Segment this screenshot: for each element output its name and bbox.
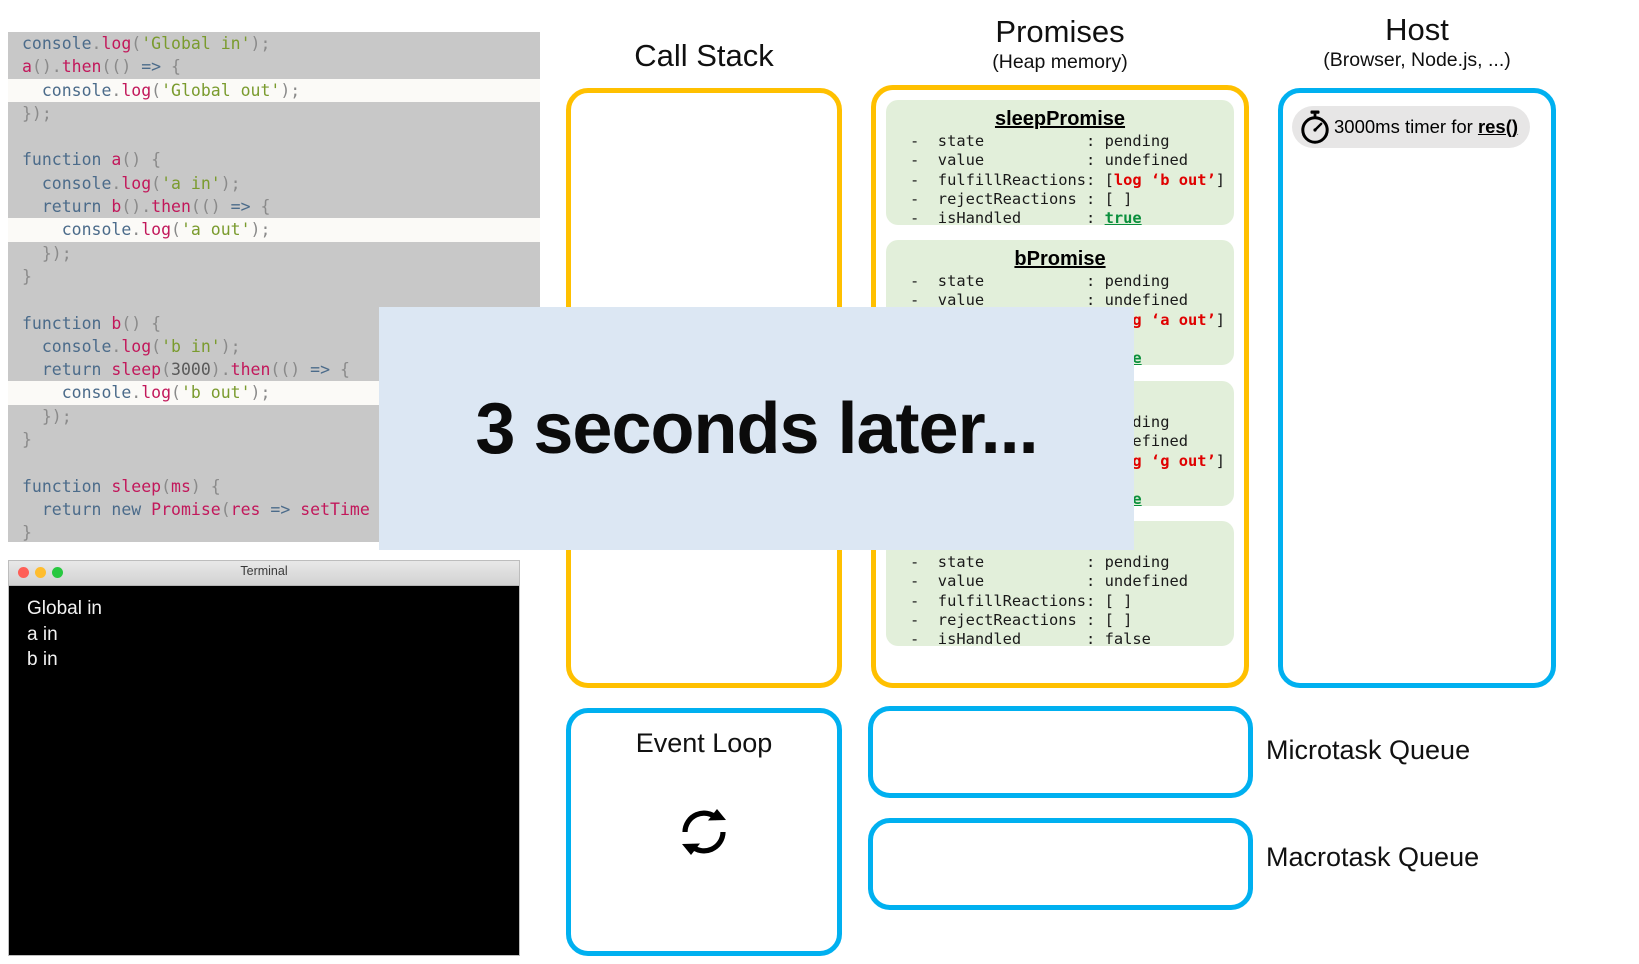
code-line: }); <box>8 242 540 265</box>
code-line <box>8 125 540 148</box>
code-token: 'Global out' <box>161 81 280 100</box>
promise-field-value: pending <box>1105 132 1170 150</box>
promise-field-key: - state : <box>910 553 1105 571</box>
promise-field-row: - value : undefined <box>910 151 1234 170</box>
promise-field-key: - rejectReactions : [ ] <box>910 190 1132 208</box>
microtask-queue-label: Microtask Queue <box>1266 735 1470 766</box>
code-token: }); <box>22 407 72 426</box>
promise-field-row: - rejectReactions : [ ] <box>910 190 1234 209</box>
code-line: } <box>8 265 540 288</box>
code-token <box>22 197 42 216</box>
code-token: 'b in' <box>161 337 221 356</box>
code-token: log <box>141 383 171 402</box>
code-token: (). <box>32 57 62 76</box>
code-token <box>101 150 111 169</box>
code-token <box>22 500 42 519</box>
promises-header: Promises (Heap memory) <box>871 14 1249 74</box>
code-line: console.log('Global in'); <box>8 32 540 55</box>
code-token <box>101 197 111 216</box>
code-token: => <box>270 500 290 519</box>
code-token: console <box>62 220 132 239</box>
code-token: log <box>121 174 151 193</box>
promise-field-value: log ‘b out’ <box>1114 171 1216 189</box>
code-token: ); <box>251 220 271 239</box>
code-token <box>141 500 151 519</box>
timer-callback: res() <box>1478 116 1518 137</box>
code-token: log <box>121 337 151 356</box>
code-token <box>22 360 42 379</box>
code-token: } <box>22 430 32 449</box>
code-token: then <box>62 57 102 76</box>
code-token: 'a out' <box>181 220 251 239</box>
call-stack-title: Call Stack <box>566 38 842 74</box>
code-token <box>22 174 42 193</box>
code-token: ( <box>151 81 161 100</box>
call-stack-header: Call Stack <box>566 38 842 74</box>
code-token: console <box>42 337 112 356</box>
terminal-line: b in <box>27 647 519 673</box>
promise-field-suffix: ] <box>1216 311 1225 329</box>
code-token: function <box>22 314 101 333</box>
code-token: ); <box>221 337 241 356</box>
promise-field-value: true <box>1105 209 1142 227</box>
code-token: . <box>111 337 121 356</box>
promise-field-value: false <box>1105 630 1151 648</box>
code-token: new <box>111 500 141 519</box>
code-token: (() <box>270 360 310 379</box>
promise-field-key: - rejectReactions : [ ] <box>910 611 1132 629</box>
promise-field-key: - value : <box>910 572 1105 590</box>
code-token <box>101 500 111 519</box>
code-token: ) { <box>191 477 221 496</box>
promise-field-value: pending <box>1105 553 1170 571</box>
stopwatch-icon <box>1298 109 1332 145</box>
promise-field-value: undefined <box>1105 572 1188 590</box>
code-token: }); <box>22 104 52 123</box>
promise-field-row: - isHandled : true <box>910 209 1234 228</box>
code-token: ( <box>151 337 161 356</box>
promise-fields: - state : pending- value : undefined- fu… <box>886 132 1234 228</box>
macrotask-queue-box <box>868 818 1253 910</box>
code-token: . <box>131 220 141 239</box>
timer-prefix: 3000ms timer for <box>1334 116 1478 137</box>
code-token: res <box>231 500 261 519</box>
code-token: . <box>111 81 121 100</box>
macrotask-queue-label: Macrotask Queue <box>1266 842 1479 873</box>
promise-field-row: - fulfillReactions: [log ‘b out’] <box>910 171 1234 190</box>
refresh-cycle-icon <box>672 800 736 869</box>
code-token: ). <box>211 360 231 379</box>
code-token: a <box>111 150 121 169</box>
promise-field-suffix: ] <box>1216 171 1225 189</box>
code-token: ( <box>221 500 231 519</box>
code-token: console <box>22 34 92 53</box>
code-token <box>290 500 300 519</box>
terminal-line: a in <box>27 622 519 648</box>
promise-name: sleepPromise <box>886 106 1234 132</box>
code-token: => <box>141 57 161 76</box>
code-token: console <box>42 81 112 100</box>
terminal-title: Terminal <box>9 564 519 578</box>
code-token: log <box>121 81 151 100</box>
code-token: sleep <box>111 477 161 496</box>
code-token: . <box>92 34 102 53</box>
promise-field-value: pending <box>1105 272 1170 290</box>
code-line: a().then(() => { <box>8 55 540 78</box>
host-title: Host <box>1278 12 1556 48</box>
terminal-output: Global ina inb in <box>9 586 519 673</box>
code-token: 'Global in' <box>141 34 250 53</box>
timer-label: 3000ms timer for res() <box>1334 116 1518 138</box>
code-token: a <box>22 57 32 76</box>
microtask-queue-box <box>868 706 1253 798</box>
event-loop-label: Event Loop <box>566 728 842 759</box>
promise-field-row: - state : pending <box>910 132 1234 151</box>
code-token: then <box>151 197 191 216</box>
code-token: } <box>22 267 32 286</box>
overlay-text: 3 seconds later... <box>475 388 1037 470</box>
code-token: (() <box>191 197 231 216</box>
promise-field-row: - rejectReactions : [ ] <box>910 611 1234 630</box>
code-line: function a() { <box>8 148 540 171</box>
promise-field-row: - state : pending <box>910 272 1234 291</box>
promise-field-key: - fulfillReactions: [ <box>910 171 1114 189</box>
code-token: { <box>161 57 181 76</box>
promise-field-row: - state : pending <box>910 553 1234 572</box>
host-subtitle: (Browser, Node.js, ...) <box>1278 48 1556 72</box>
code-token: { <box>330 360 350 379</box>
promise-field-key: - isHandled : <box>910 630 1105 648</box>
code-token: return <box>42 360 102 379</box>
code-token: . <box>131 383 141 402</box>
terminal-titlebar: Terminal <box>9 561 519 586</box>
code-token <box>101 314 111 333</box>
promise-field-key: - isHandled : <box>910 209 1105 227</box>
promise-field-suffix: ] <box>1216 452 1225 470</box>
code-token: console <box>62 383 132 402</box>
code-token: ( <box>171 383 181 402</box>
code-token: ( <box>151 174 161 193</box>
promise-field-row: - value : undefined <box>910 572 1234 591</box>
code-token: setTime <box>300 500 370 519</box>
code-line: return b().then(() => { <box>8 195 540 218</box>
code-line: console.log('a in'); <box>8 172 540 195</box>
code-token <box>22 383 62 402</box>
promise-card: sleepPromise- state : pending- value : u… <box>886 100 1234 225</box>
code-token: ); <box>280 81 300 100</box>
code-line: console.log('a out'); <box>8 218 540 241</box>
code-token: ( <box>131 34 141 53</box>
code-token: sleep <box>111 360 161 379</box>
promise-field-value: undefined <box>1105 151 1188 169</box>
code-token: { <box>251 197 271 216</box>
code-token: ); <box>221 174 241 193</box>
transition-overlay: 3 seconds later... <box>379 307 1134 550</box>
code-token: b <box>111 197 121 216</box>
code-token: => <box>310 360 330 379</box>
code-token: ); <box>251 383 271 402</box>
code-token: ( <box>161 360 171 379</box>
promises-subtitle: (Heap memory) <box>871 50 1249 74</box>
code-token: => <box>231 197 251 216</box>
code-token: console <box>42 174 112 193</box>
terminal-window: Terminal Global ina inb in <box>8 560 520 956</box>
promise-fields: - state : pending- value : undefined- fu… <box>886 553 1234 649</box>
code-token: () { <box>121 314 161 333</box>
code-token: }); <box>22 244 72 263</box>
code-token: b <box>111 314 121 333</box>
code-token: function <box>22 150 101 169</box>
code-token: (). <box>121 197 151 216</box>
code-token <box>22 81 42 100</box>
promise-field-row: - isHandled : false <box>910 630 1234 649</box>
promises-title: Promises <box>871 14 1249 50</box>
code-token <box>22 337 42 356</box>
promise-name: bPromise <box>886 246 1234 272</box>
code-token: . <box>111 174 121 193</box>
code-token: 3000 <box>171 360 211 379</box>
code-token: ms <box>171 477 191 496</box>
code-token: then <box>231 360 271 379</box>
code-token: (() <box>102 57 142 76</box>
promise-field-key: - state : <box>910 132 1105 150</box>
code-token: log <box>141 220 171 239</box>
code-token: ( <box>161 477 171 496</box>
code-token: log <box>101 34 131 53</box>
code-token: function <box>22 477 101 496</box>
code-token: return <box>42 197 102 216</box>
code-line: console.log('Global out'); <box>8 79 540 102</box>
code-token: ( <box>171 220 181 239</box>
host-header: Host (Browser, Node.js, ...) <box>1278 12 1556 72</box>
code-token: 'a in' <box>161 174 221 193</box>
code-token: Promise <box>151 500 221 519</box>
terminal-line: Global in <box>27 596 519 622</box>
code-token <box>101 360 111 379</box>
code-token <box>101 477 111 496</box>
code-token: () { <box>121 150 161 169</box>
promise-field-key: - fulfillReactions: [ ] <box>910 592 1132 610</box>
code-token: 'b out' <box>181 383 251 402</box>
code-token: ); <box>251 34 271 53</box>
host-box <box>1278 88 1556 688</box>
promise-field-key: - state : <box>910 272 1105 290</box>
code-line: }); <box>8 102 540 125</box>
code-token <box>22 220 62 239</box>
promise-field-key: - value : <box>910 151 1105 169</box>
code-token: } <box>22 523 32 542</box>
code-token <box>260 500 270 519</box>
code-token: return <box>42 500 102 519</box>
promise-field-row: - fulfillReactions: [ ] <box>910 592 1234 611</box>
host-timer-entry[interactable]: 3000ms timer for res() <box>1292 106 1530 148</box>
